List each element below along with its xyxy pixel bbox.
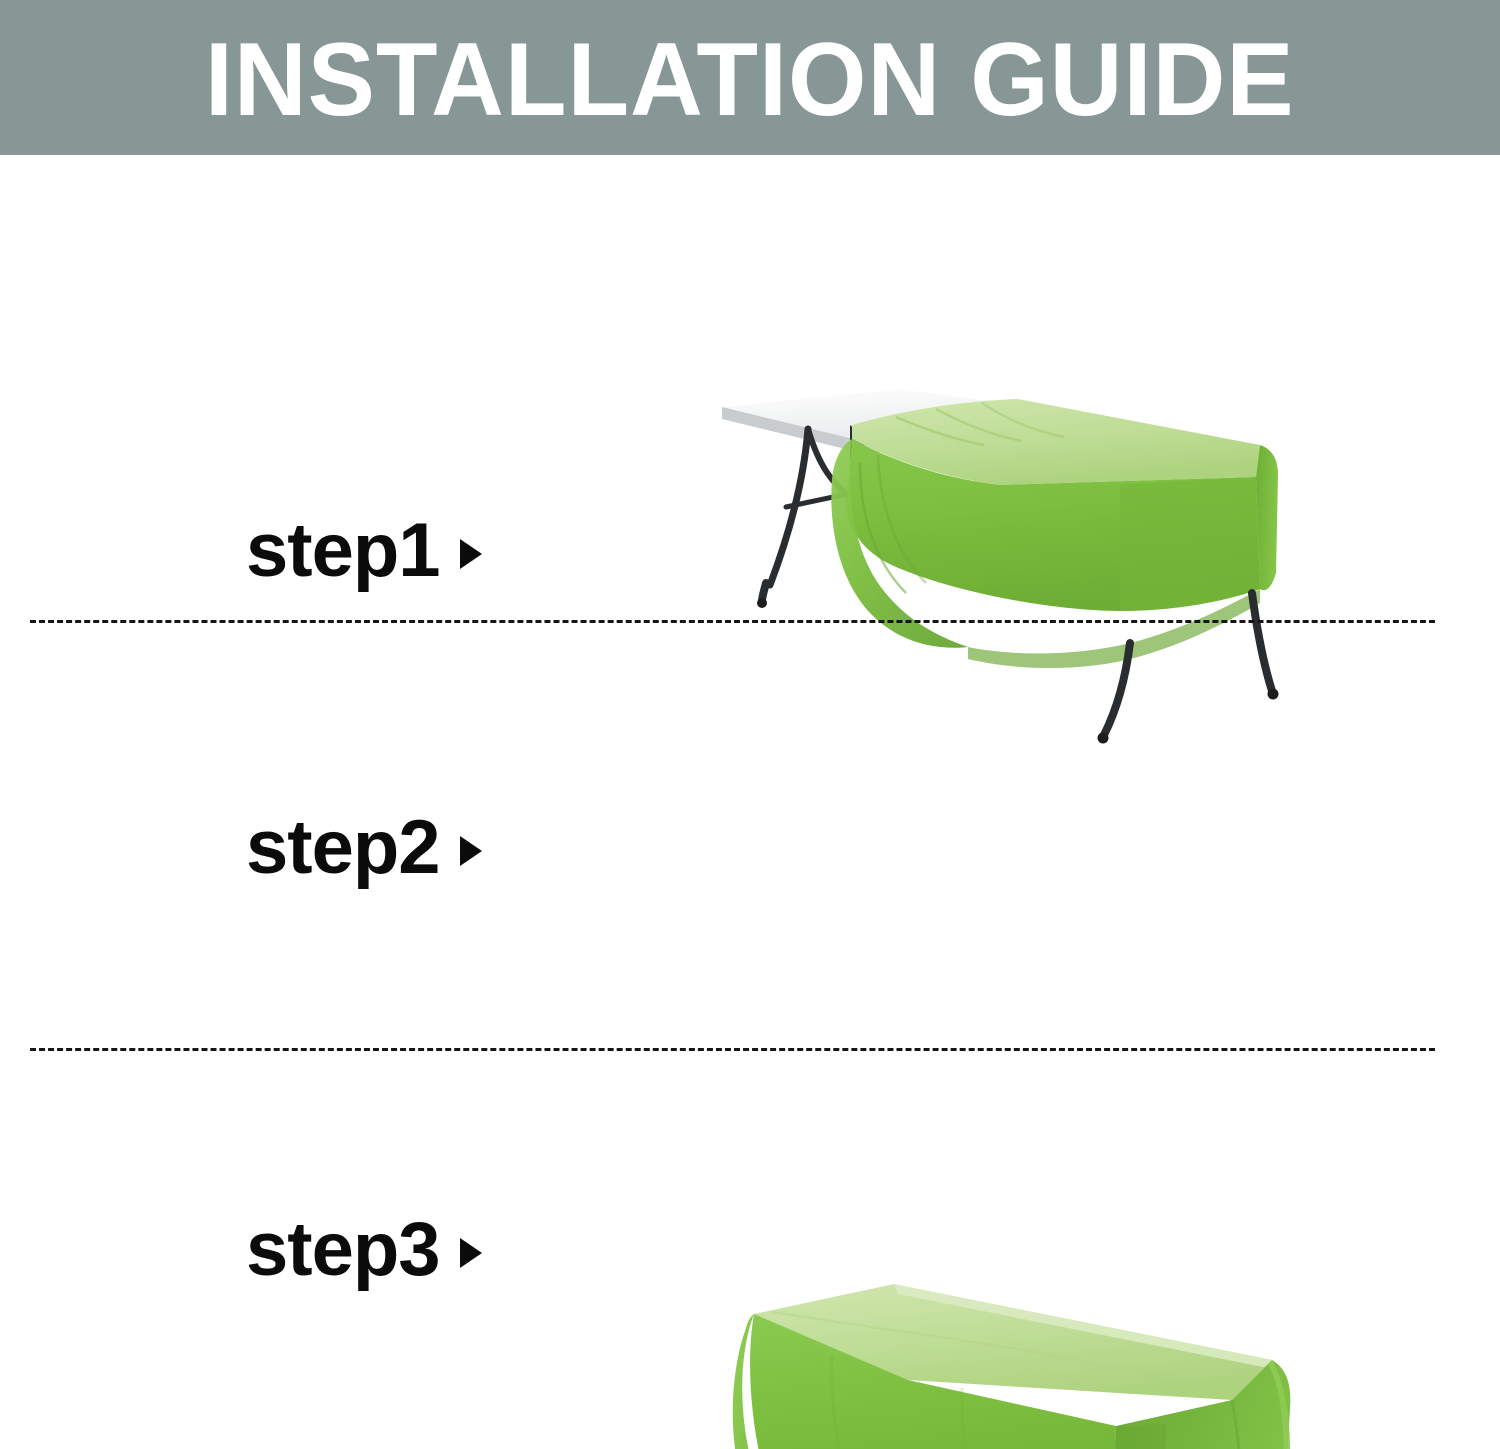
step-label-3: step3 — [246, 1209, 440, 1291]
installation-guide-page: INSTALLATION GUIDE step1 — [0, 0, 1500, 1449]
step-label-group-3: step3 — [246, 1209, 482, 1291]
triangle-right-icon — [460, 539, 482, 569]
triangle-right-icon — [460, 836, 482, 866]
step-row-1: step1 — [0, 155, 1500, 622]
page-title: INSTALLATION GUIDE — [205, 28, 1295, 132]
step-label-2: step2 — [246, 807, 440, 889]
step-row-2: step2 — [0, 622, 1500, 1049]
header-banner: INSTALLATION GUIDE — [0, 0, 1500, 155]
step-row-3: step3 — [0, 1049, 1500, 1449]
step-label-1: step1 — [246, 510, 440, 592]
step-label-group-1: step1 — [246, 510, 482, 592]
step-label-group-2: step2 — [246, 807, 482, 889]
triangle-right-icon — [460, 1238, 482, 1268]
